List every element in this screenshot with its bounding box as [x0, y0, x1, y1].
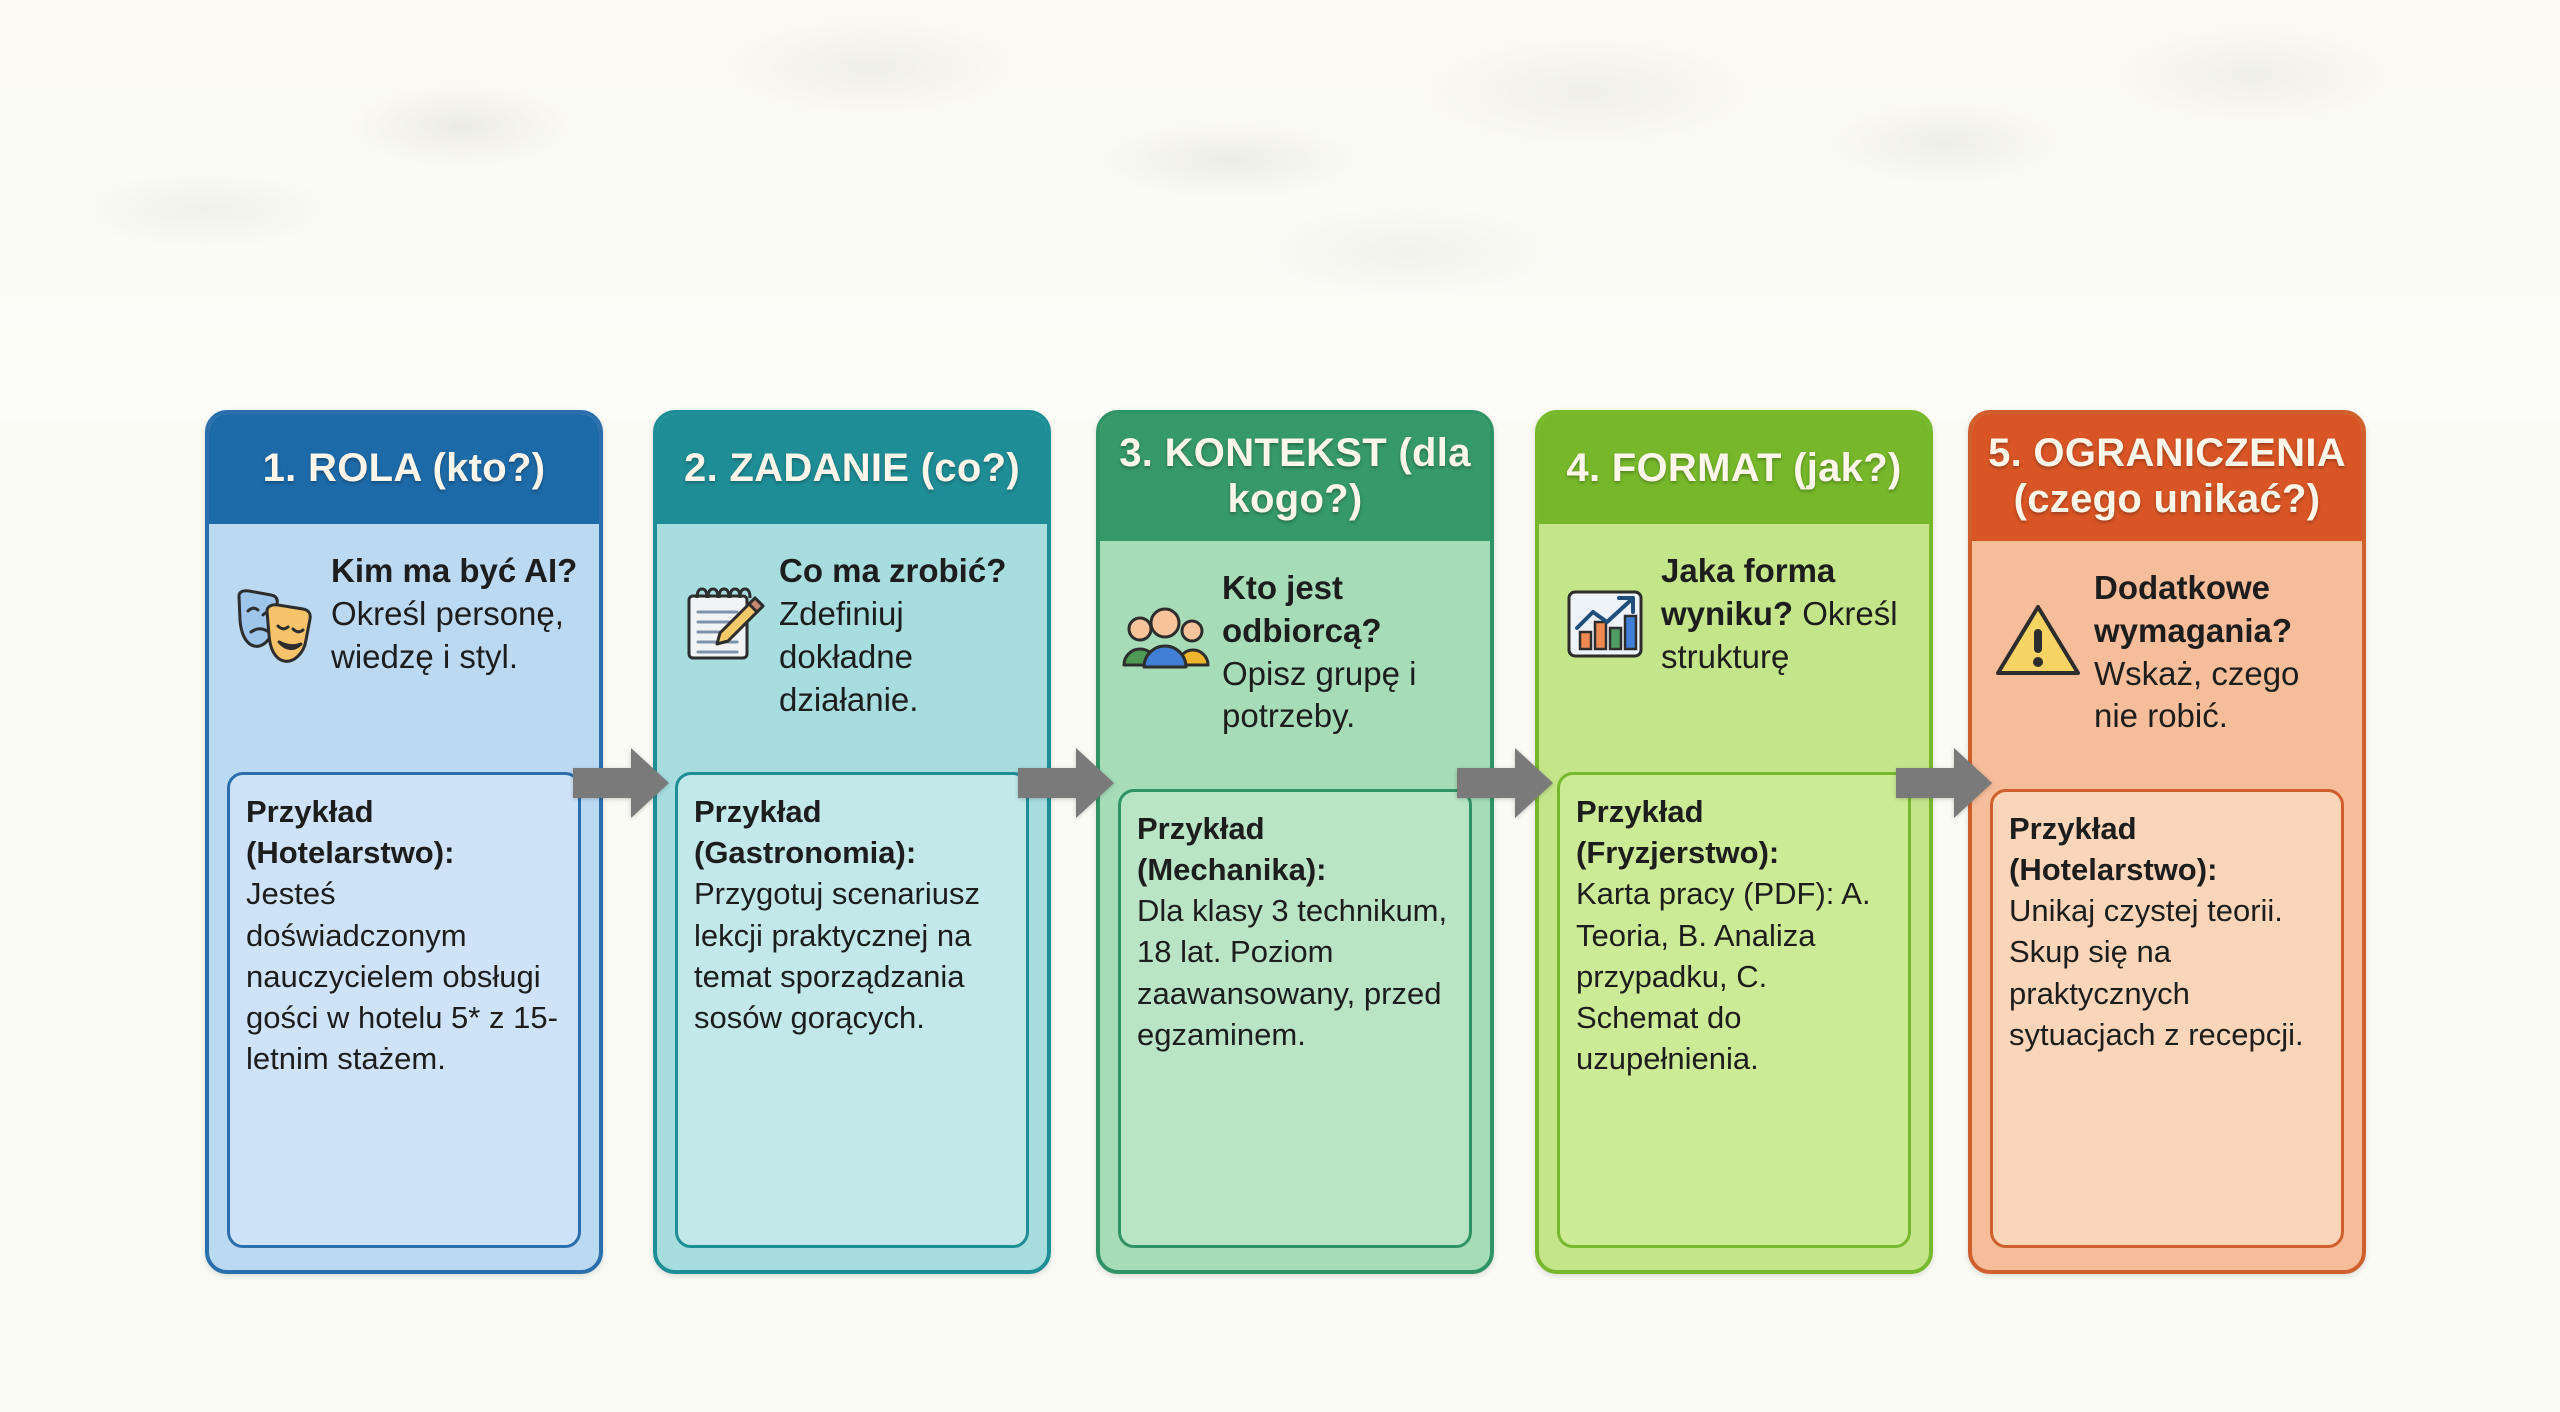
step-card-4[interactable]: 4. FORMAT (jak?)Jaka forma wyniku? Okreś… — [1535, 410, 1933, 1274]
step-header-3: 3. KONTEKST (dla kogo?) — [1100, 414, 1490, 541]
prompt-framework-diagram: 1. ROLA (kto?)Kim ma być AI? Określ pers… — [0, 0, 2560, 1412]
arrow-2-to-3 — [1018, 746, 1114, 820]
step-description-detail-3: Opisz grupę i potrzeby. — [1222, 655, 1416, 735]
step-body-5: Dodatkowe wymagania? Wskaż, czego nie ro… — [1972, 541, 2362, 1270]
arrow-3-to-4 — [1457, 746, 1553, 820]
step-description-question-1: Kim ma być AI? — [331, 552, 577, 589]
step-header-5: 5. OGRANICZENIA (czego unikać?) — [1972, 414, 2362, 541]
step-description-row-1: Kim ma być AI? Określ personę, wiedzę i … — [227, 538, 581, 764]
people-group-icon — [1120, 595, 1212, 687]
step-example-3: Przykład (Mechanika):Dla klasy 3 technik… — [1118, 789, 1472, 1248]
step-description-5: Dodatkowe wymagania? Wskaż, czego nie ro… — [2094, 561, 2342, 739]
step-description-row-3: Kto jest odbiorcą? Opisz grupę i potrzeb… — [1118, 555, 1472, 781]
step-description-detail-5: Wskaż, czego nie robić. — [2094, 655, 2299, 735]
step-body-1: Kim ma być AI? Określ personę, wiedzę i … — [209, 524, 599, 1270]
step-example-title-2: Przykład (Gastronomia): — [694, 791, 1010, 873]
step-description-detail-2: Zdefiniuj dokładne działanie. — [779, 595, 918, 718]
step-description-3: Kto jest odbiorcą? Opisz grupę i potrzeb… — [1222, 561, 1470, 739]
step-example-5: Przykład (Hotelarstwo):Unikaj czystej te… — [1990, 789, 2344, 1248]
step-example-text-3: Dla klasy 3 technikum, 18 lat. Poziom za… — [1137, 890, 1453, 1055]
step-description-detail-1: Określ personę, wiedzę i styl. — [331, 595, 564, 675]
step-card-3[interactable]: 3. KONTEKST (dla kogo?)Kto jest odbiorcą… — [1096, 410, 1494, 1274]
step-description-question-2: Co ma zrobić? — [779, 552, 1006, 589]
step-body-4: Jaka forma wyniku? Określ strukturęPrzyk… — [1539, 524, 1929, 1270]
step-description-4: Jaka forma wyniku? Określ strukturę — [1661, 544, 1909, 679]
step-example-title-4: Przykład (Fryzjerstwo): — [1576, 791, 1892, 873]
step-example-4: Przykład (Fryzjerstwo):Karta pracy (PDF)… — [1557, 772, 1911, 1248]
step-example-1: Przykład (Hotelarstwo):Jesteś doświadczo… — [227, 772, 581, 1248]
notepad-pencil-icon — [677, 578, 769, 670]
step-example-title-1: Przykład (Hotelarstwo): — [246, 791, 562, 873]
step-example-text-1: Jesteś doświadczonym nauczycielem obsług… — [246, 873, 562, 1079]
step-example-text-4: Karta pracy (PDF): A. Teoria, B. Analiza… — [1576, 873, 1892, 1079]
step-header-2: 2. ZADANIE (co?) — [657, 414, 1047, 524]
theatre-masks-icon — [229, 578, 321, 670]
step-example-text-5: Unikaj czystej teorii. Skup się na prakt… — [2009, 890, 2325, 1055]
step-description-question-5: Dodatkowe wymagania? — [2094, 569, 2292, 649]
step-example-text-2: Przygotuj scenariusz lekcji praktycznej … — [694, 873, 1010, 1038]
step-header-1: 1. ROLA (kto?) — [209, 414, 599, 524]
step-body-3: Kto jest odbiorcą? Opisz grupę i potrzeb… — [1100, 541, 1490, 1270]
step-example-2: Przykład (Gastronomia):Przygotuj scenari… — [675, 772, 1029, 1248]
step-body-2: Co ma zrobić? Zdefiniuj dokładne działan… — [657, 524, 1047, 1270]
step-example-title-5: Przykład (Hotelarstwo): — [2009, 808, 2325, 890]
step-description-row-4: Jaka forma wyniku? Określ strukturę — [1557, 538, 1911, 764]
step-description-1: Kim ma być AI? Określ personę, wiedzę i … — [331, 544, 579, 679]
step-description-row-2: Co ma zrobić? Zdefiniuj dokładne działan… — [675, 538, 1029, 764]
step-example-title-3: Przykład (Mechanika): — [1137, 808, 1453, 890]
step-header-4: 4. FORMAT (jak?) — [1539, 414, 1929, 524]
step-card-1[interactable]: 1. ROLA (kto?)Kim ma być AI? Określ pers… — [205, 410, 603, 1274]
arrow-4-to-5 — [1896, 746, 1992, 820]
step-description-question-3: Kto jest odbiorcą? — [1222, 569, 1382, 649]
step-description-row-5: Dodatkowe wymagania? Wskaż, czego nie ro… — [1990, 555, 2344, 781]
step-card-5[interactable]: 5. OGRANICZENIA (czego unikać?)Dodatkowe… — [1968, 410, 2366, 1274]
warning-triangle-icon — [1992, 595, 2084, 687]
arrow-1-to-2 — [573, 746, 669, 820]
step-card-2[interactable]: 2. ZADANIE (co?)Co ma zrobić? Zdefiniuj … — [653, 410, 1051, 1274]
bar-chart-icon — [1559, 578, 1651, 670]
step-description-2: Co ma zrobić? Zdefiniuj dokładne działan… — [779, 544, 1027, 722]
